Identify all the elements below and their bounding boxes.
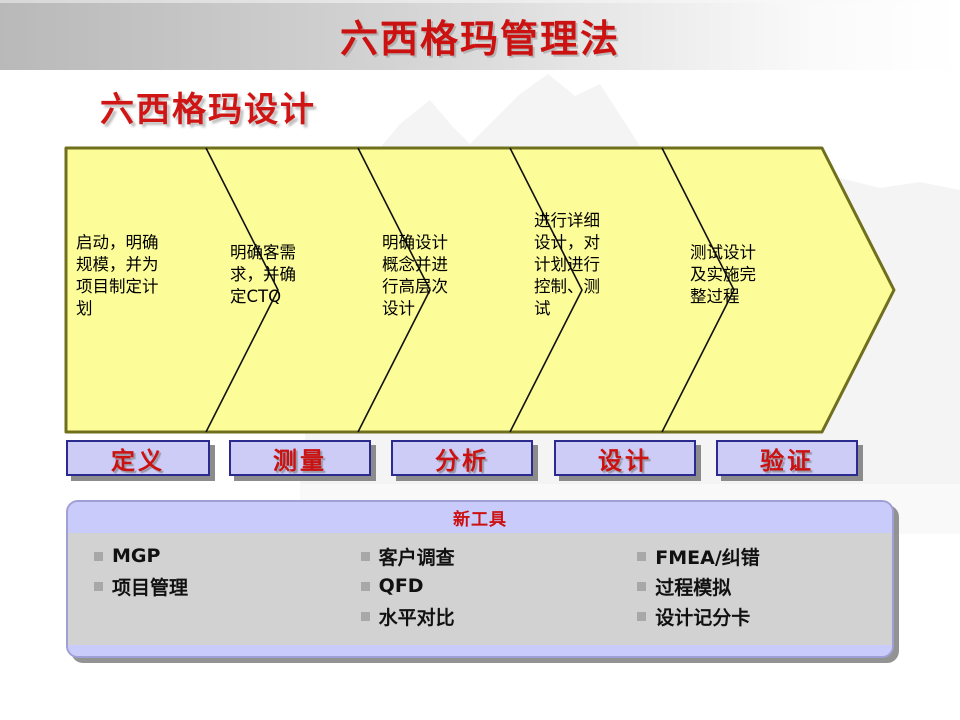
- list-item[interactable]: 设计记分卡: [637, 601, 892, 631]
- square-bullet-icon: [94, 552, 103, 561]
- new-tools-panel-footer: [68, 645, 892, 657]
- square-bullet-icon: [637, 582, 646, 591]
- phase-button-row: 定义 测量 分析 设计 验证: [66, 440, 896, 486]
- list-item[interactable]: MGP: [94, 541, 353, 571]
- list-item[interactable]: 客户调查: [361, 541, 628, 571]
- process-step-label-analyze: 明确设计 概念并进 行高层次 设计: [382, 232, 506, 320]
- section-subtitle: 六西格玛设计: [100, 82, 316, 131]
- square-bullet-icon: [361, 582, 370, 591]
- list-item[interactable]: 水平对比: [361, 601, 628, 631]
- phase-button-verify-label: 验证: [760, 441, 814, 476]
- phase-button-design-label: 设计: [598, 441, 652, 476]
- list-item[interactable]: FMEA/纠错: [637, 541, 892, 571]
- process-chevron-diagram: 启动，明确 规模，并为 项目制定计 划 明确客需 求，并确 定CTQ 明确设计 …: [62, 146, 898, 434]
- list-item[interactable]: QFD: [361, 571, 628, 601]
- phase-button-measure[interactable]: 测量: [229, 440, 371, 476]
- page-title: 六西格玛管理法: [0, 8, 960, 63]
- tool-label: QFD: [379, 575, 424, 597]
- process-step-label-measure: 明确客需 求，并确 定CTQ: [230, 242, 354, 308]
- phase-button-define[interactable]: 定义: [66, 440, 210, 476]
- tool-label: 项目管理: [112, 573, 188, 600]
- tools-column-3: FMEA/纠错 过程模拟 设计记分卡: [627, 541, 892, 645]
- square-bullet-icon: [637, 612, 646, 621]
- phase-button-analyze-label: 分析: [435, 441, 489, 476]
- tool-label: 水平对比: [379, 603, 455, 630]
- square-bullet-icon: [637, 552, 646, 561]
- new-tools-panel-header: 新工具: [68, 502, 892, 533]
- square-bullet-icon: [361, 552, 370, 561]
- process-step-label-define: 启动，明确 规模，并为 项目制定计 划: [76, 232, 202, 320]
- list-item[interactable]: 过程模拟: [637, 571, 892, 601]
- list-item[interactable]: 项目管理: [94, 571, 353, 601]
- square-bullet-icon: [361, 612, 370, 621]
- tool-label: MGP: [112, 545, 160, 567]
- phase-button-analyze[interactable]: 分析: [391, 440, 533, 476]
- new-tools-panel-body: MGP 项目管理 客户调查 QFD 水平对比: [68, 533, 892, 645]
- phase-button-design[interactable]: 设计: [554, 440, 696, 476]
- new-tools-panel-title: 新工具: [453, 505, 507, 530]
- phase-button-define-label: 定义: [111, 441, 165, 476]
- tool-label: 设计记分卡: [655, 603, 750, 630]
- process-step-label-verify: 测试设计 及实施完 整过程: [690, 242, 816, 308]
- phase-button-measure-label: 测量: [273, 441, 327, 476]
- tools-column-1: MGP 项目管理: [68, 541, 353, 645]
- tool-label: 过程模拟: [655, 573, 731, 600]
- new-tools-panel: 新工具 MGP 项目管理 客户调查 QFD 水平对比: [66, 500, 894, 658]
- phase-button-verify[interactable]: 验证: [716, 440, 858, 476]
- tool-label: 客户调查: [379, 543, 455, 570]
- tool-label: FMEA/纠错: [655, 543, 760, 570]
- tools-column-2: 客户调查 QFD 水平对比: [353, 541, 628, 645]
- process-step-label-design: 进行详细 设计，对 计划进行 控制、测 试: [534, 210, 658, 320]
- square-bullet-icon: [94, 582, 103, 591]
